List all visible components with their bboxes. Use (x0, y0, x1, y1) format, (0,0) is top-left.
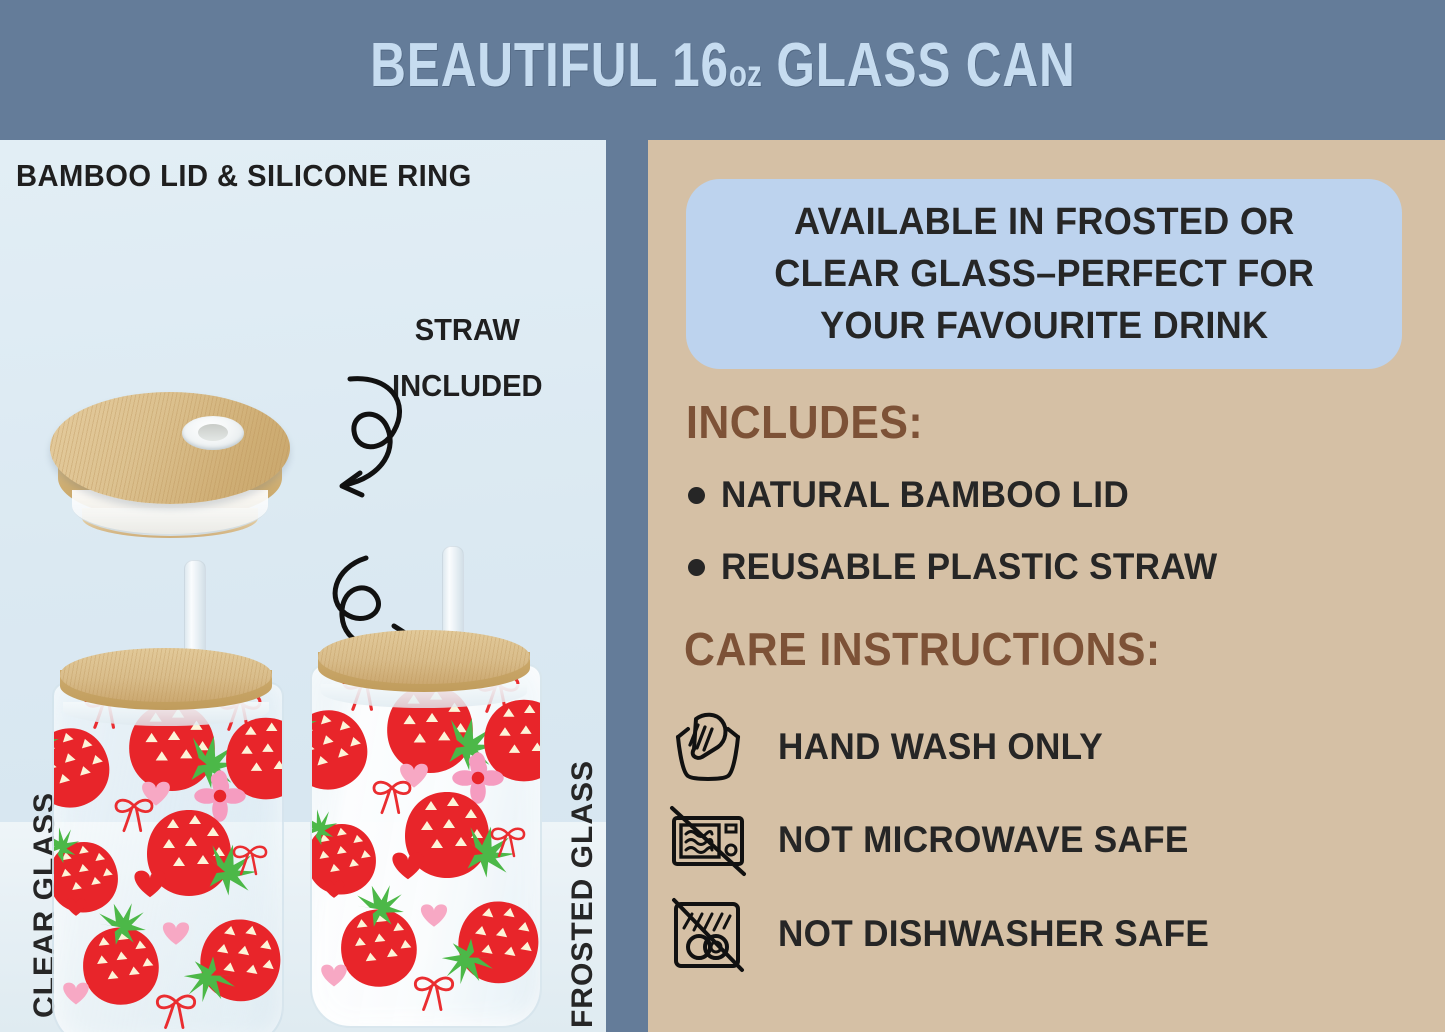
title-oz-unit: oz (728, 53, 761, 94)
clear-glass-can (50, 560, 290, 1032)
hand-wash-icon (666, 705, 750, 789)
includes-item-bamboo-lid: NATURAL BAMBOO LID (688, 474, 1151, 516)
includes-item-label: NATURAL BAMBOO LID (721, 474, 1129, 516)
care-item-label: NOT DISHWASHER SAFE (778, 913, 1209, 955)
callout-line-1: AVAILABLE IN FROSTED OR (774, 196, 1314, 248)
includes-item-plastic-straw: REUSABLE PLASTIC STRAW (688, 546, 1244, 588)
availability-callout: AVAILABLE IN FROSTED OR CLEAR GLASS–PERF… (686, 179, 1402, 369)
includes-item-label: REUSABLE PLASTIC STRAW (721, 546, 1217, 588)
header-banner: BEAUTIFUL 16oz GLASS CAN (0, 0, 1445, 131)
bullet-dot-icon (688, 559, 705, 576)
strawberry-pattern-clear (54, 684, 282, 1032)
care-item-hand-wash: HAND WASH ONLY (666, 705, 1120, 789)
frosted-glass-body (310, 664, 542, 1028)
no-dishwasher-icon (666, 892, 750, 976)
product-photo-panel: BAMBOO LID & SILICONE RING STRAW INCLUDE… (0, 140, 606, 1032)
bullet-dot-icon (688, 487, 705, 504)
care-item-no-dishwasher: NOT DISHWASHER SAFE (666, 892, 1232, 976)
care-instructions-heading: CARE INSTRUCTIONS: (684, 622, 1161, 676)
title-part-2: GLASS CAN (776, 31, 1075, 100)
bamboo-lid-label: BAMBOO LID & SILICONE RING (16, 158, 571, 194)
bamboo-lid-frosted (318, 630, 530, 684)
strawberry-pattern-frosted (312, 666, 540, 1026)
care-item-label: HAND WASH ONLY (778, 726, 1103, 768)
clear-glass-body (52, 682, 284, 1032)
bamboo-lid-closeup (46, 390, 296, 542)
no-microwave-icon (666, 798, 750, 882)
page-title: BEAUTIFUL 16oz GLASS CAN (370, 30, 1075, 101)
includes-heading: INCLUDES: (686, 395, 923, 449)
care-item-no-microwave: NOT MICROWAVE SAFE (666, 798, 1210, 882)
title-part-1: BEAUTIFUL 16 (370, 31, 729, 100)
care-item-label: NOT MICROWAVE SAFE (778, 819, 1189, 861)
infographic-page: BEAUTIFUL 16oz GLASS CAN BAMBOO LID & SI… (0, 0, 1445, 1032)
availability-callout-text: AVAILABLE IN FROSTED OR CLEAR GLASS–PERF… (774, 196, 1314, 352)
callout-line-3: YOUR FAVOURITE DRINK (774, 300, 1314, 352)
lid-straw-hole-inner (198, 424, 228, 441)
lid-top-surface (50, 392, 290, 504)
callout-line-2: CLEAR GLASS–PERFECT FOR (774, 248, 1314, 300)
frosted-glass-can (308, 546, 548, 1026)
curly-arrow-to-lid-icon (298, 373, 418, 503)
details-panel: AVAILABLE IN FROSTED OR CLEAR GLASS–PERF… (648, 140, 1445, 1032)
straw-label-line-1: STRAW (378, 302, 557, 358)
bamboo-lid-clear (60, 648, 272, 702)
frosted-glass-label: FROSTED GLASS (566, 760, 600, 1028)
